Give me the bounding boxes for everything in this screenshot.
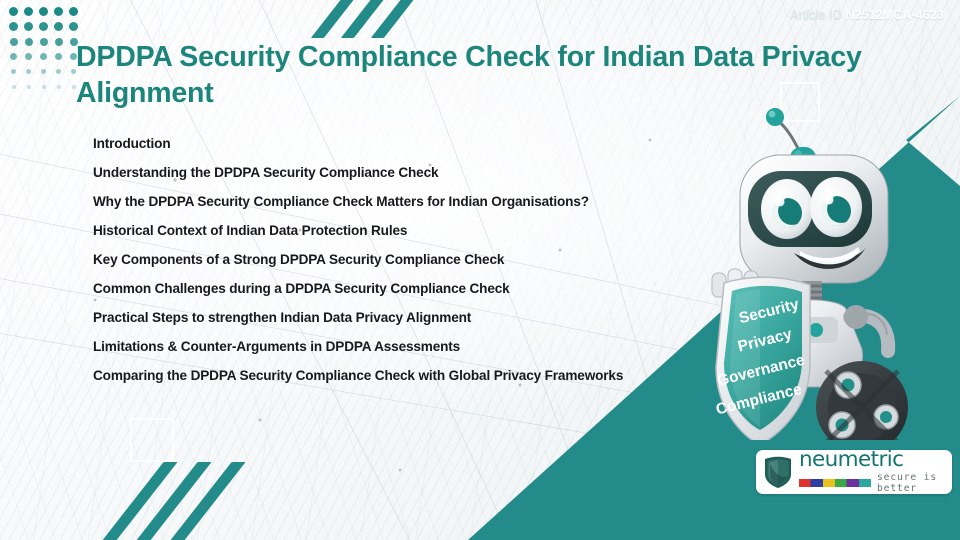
robot-wheel <box>816 361 908 440</box>
toc-item[interactable]: Introduction <box>93 137 753 151</box>
toc-item[interactable]: Why the DPDPA Security Compliance Check … <box>93 195 753 209</box>
dot-grid-decor <box>6 4 81 94</box>
toc-item[interactable]: Understanding the DPDPA Security Complia… <box>93 166 753 180</box>
toc-item[interactable]: Historical Context of Indian Data Protec… <box>93 224 753 238</box>
logo-wordmark: neumetric <box>799 450 944 471</box>
robot-head <box>740 155 888 283</box>
outlined-square-decor-bottom <box>130 418 174 462</box>
diagonal-bars-top <box>326 0 446 40</box>
article-id-value: N2512MCA-4623 <box>845 8 944 22</box>
table-of-contents: Introduction Understanding the DPDPA Sec… <box>93 137 753 398</box>
robot-eye-right <box>810 177 862 237</box>
article-id: Article ID N2512MCA-4623 <box>790 8 944 22</box>
robot-eye-left <box>761 179 813 239</box>
toc-item[interactable]: Common Challenges during a DPDPA Securit… <box>93 282 753 296</box>
article-id-label: Article ID <box>790 8 842 22</box>
rainbow-bar-icon <box>799 479 871 487</box>
logo-tagline: secure is better <box>877 472 944 494</box>
robot-mascot-illustration: Security Privacy Governance Compliance <box>690 95 960 440</box>
security-shield: Security Privacy Governance Compliance <box>714 277 810 440</box>
toc-item[interactable]: Practical Steps to strengthen Indian Dat… <box>93 311 753 325</box>
slide-canvas: Article ID N2512MCA-4623 DPDPA Security … <box>0 0 960 540</box>
toc-item[interactable]: Key Components of a Strong DPDPA Securit… <box>93 253 753 267</box>
shield-icon <box>763 455 793 489</box>
toc-item[interactable]: Comparing the DPDPA Security Compliance … <box>93 369 753 383</box>
diagonal-bars-bottom <box>128 462 258 540</box>
toc-item[interactable]: Limitations & Counter-Arguments in DPDPA… <box>93 340 753 354</box>
neumetric-logo[interactable]: neumetric secure is better <box>756 450 952 494</box>
